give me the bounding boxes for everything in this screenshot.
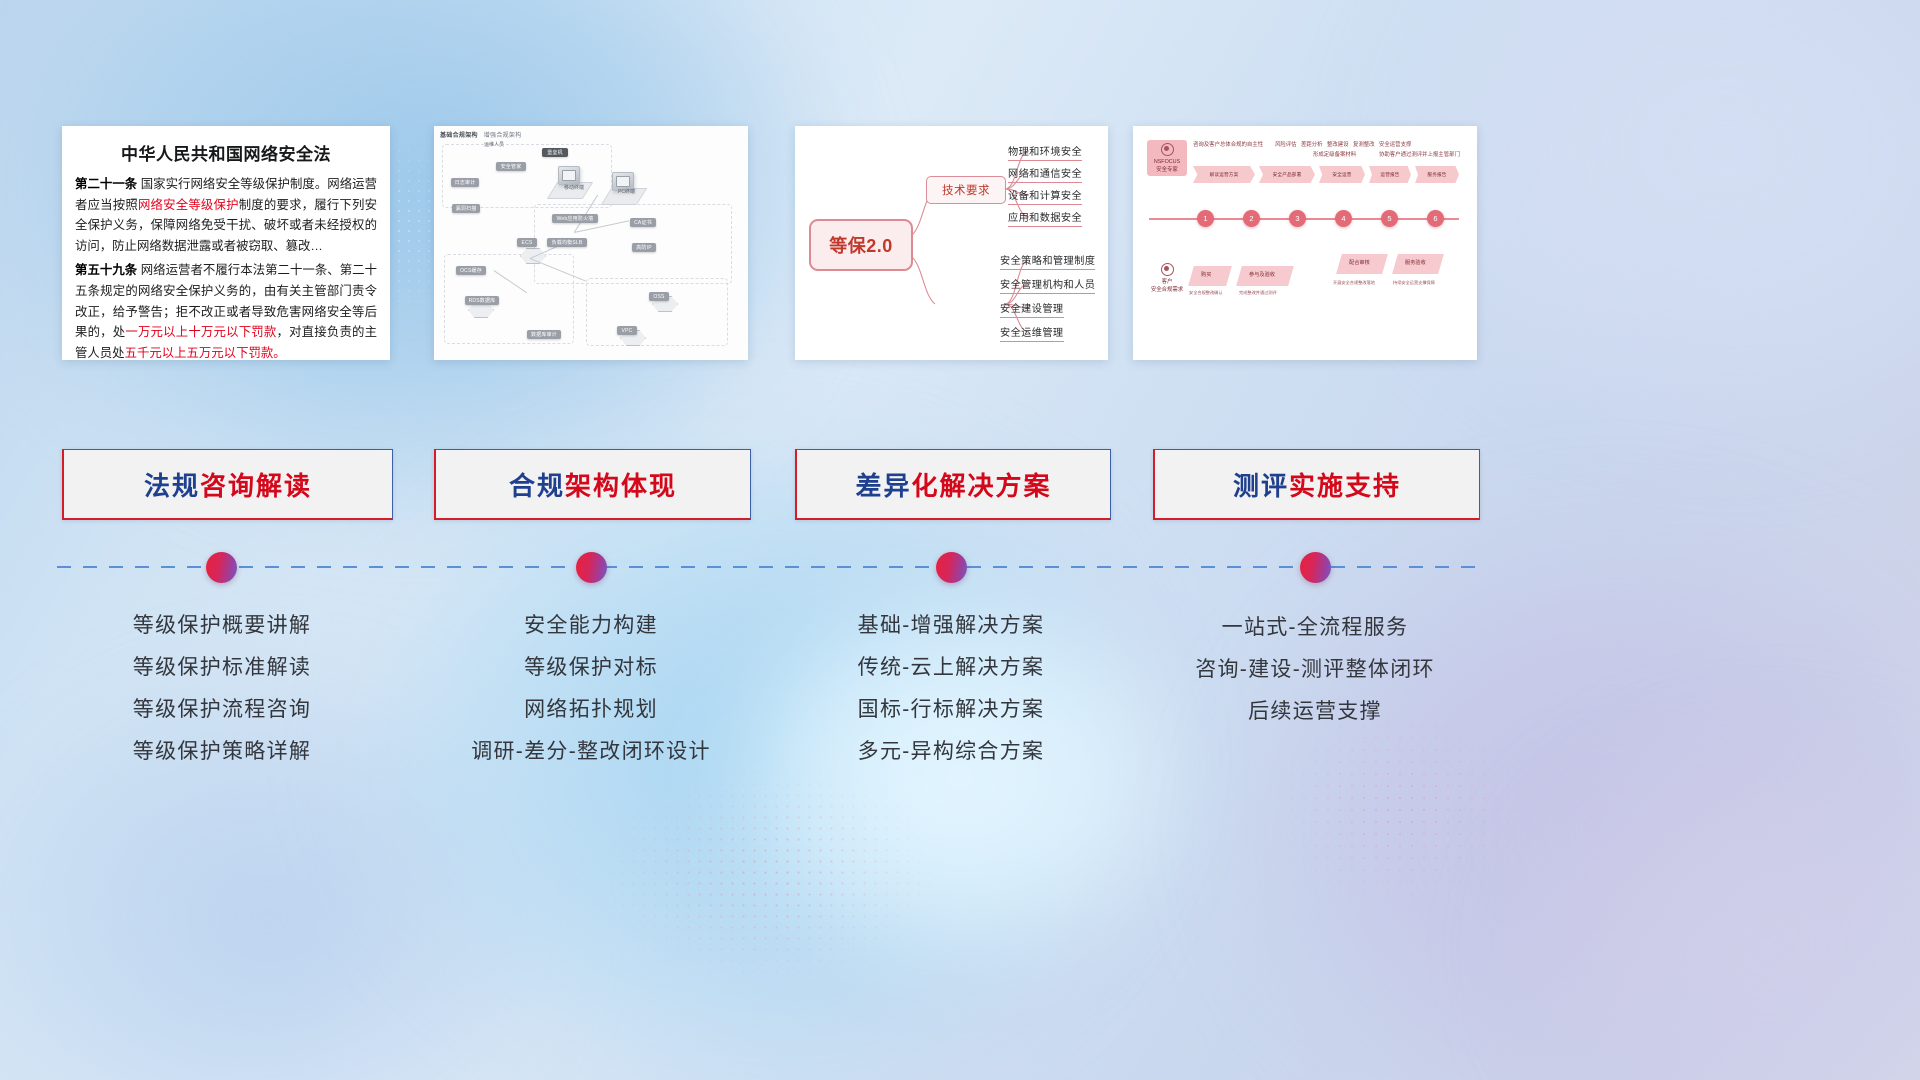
roadmap-top-tag: 协助客户通过测评并上报主管部门	[1379, 150, 1460, 158]
architecture-box: OCS缓存	[456, 266, 486, 275]
section-title-box-1[interactable]: 法规咨询解读	[62, 449, 393, 520]
architecture-zone-outline	[586, 278, 728, 346]
bullet-column-3: 基础-增强解决方案 传统-云上解决方案 国标-行标解决方案 多元-异构综合方案	[781, 605, 1121, 773]
roadmap-bottom-sub: 持续安全运营支撑保障	[1393, 280, 1435, 286]
mindmap-leaf: 设备和计算安全	[1008, 187, 1082, 205]
bullet-item: 等级保护对标	[421, 647, 761, 689]
architecture-box: Web应用防火墙	[552, 214, 598, 223]
roadmap-bottom-title: 购买	[1201, 271, 1211, 278]
architecture-box: 数据库审计	[527, 330, 561, 339]
architecture-box: OSS	[649, 292, 669, 301]
law-run-highlight: 网络安全等级保护	[138, 198, 239, 212]
architecture-box: VPC	[617, 326, 637, 335]
customer-avatar-icon	[1161, 263, 1174, 276]
roadmap-bottom-title: 服务验收	[1405, 259, 1426, 266]
law-title: 中华人民共和国网络安全法	[75, 140, 377, 165]
mindmap-leaf: 网络和通信安全	[1008, 165, 1082, 183]
bullet-item: 基础-增强解决方案	[781, 605, 1121, 647]
architecture-box: RDS数据库	[465, 296, 499, 305]
law-paragraph-59: 第五十九条 网络运营者不履行本法第二十一条、第二十五条规定的网络安全保护义务的，…	[75, 260, 377, 360]
roadmap-top-tag: 差距分析	[1301, 140, 1323, 148]
bullet-item: 多元-异构综合方案	[781, 731, 1121, 773]
card-mindmap-dengbao: 等保2.0 技术要求 管理要求 物理和环境安全 网络和通信安全 设备和计算安全 …	[795, 126, 1108, 360]
roadmap-bottom-sub: 安全合规整改确认	[1189, 290, 1223, 296]
law-article-number-59: 第五十九条	[75, 263, 137, 277]
architecture-zone-outline	[442, 144, 612, 208]
section-title-3: 差异化解决方案	[855, 466, 1051, 503]
roadmap-top-tag: 安全运营支撑	[1379, 140, 1411, 148]
bullet-item: 安全能力构建	[421, 605, 761, 647]
timeline-dot-3[interactable]	[936, 552, 967, 583]
card-cybersecurity-law: 中华人民共和国网络安全法 第二十一条 国家实行网络安全等级保护制度。网络运营者应…	[62, 126, 390, 360]
mindmap-leaf: 安全管理机构和人员	[1000, 276, 1095, 294]
bullet-item: 等级保护流程咨询	[52, 689, 392, 731]
bullet-item: 后续运营支撑	[1145, 691, 1485, 733]
mindmap-leaf: 物理和环境安全	[1008, 143, 1082, 161]
roadmap-top-tag: 形成定级备案材料	[1313, 150, 1356, 158]
roadmap-bottom-sub: 开展安全合规整改落地	[1333, 280, 1375, 286]
law-run-highlight: 一万元以上十万元以下罚款	[125, 325, 276, 339]
law-run-highlight: 五千元以上五万元以下罚款。	[125, 346, 286, 360]
architecture-box: 安全管家	[496, 162, 526, 171]
roadmap-top-tag: 咨询及客户总体合规的自主性	[1193, 140, 1263, 148]
roadmap-bottom-sub: 完成整改并通过测评	[1239, 290, 1277, 296]
architecture-header-right: 增强合规架构	[484, 133, 522, 139]
mindmap-leaf: 安全运维管理	[1000, 324, 1064, 342]
roadmap-brand-name: NSFOCUS	[1154, 158, 1180, 166]
architecture-box: ECS	[517, 238, 537, 247]
roadmap-top-tag: 复测整改	[1353, 140, 1375, 148]
timeline-dashed-line	[57, 566, 1477, 568]
law-article-number-21: 第二十一条	[75, 177, 137, 191]
section-title-4: 测评实施支持	[1233, 466, 1401, 503]
timeline-dot-1[interactable]	[206, 552, 237, 583]
bullet-column-2: 安全能力构建 等级保护对标 网络拓扑规划 调研-差分-整改闭环设计	[421, 605, 761, 773]
roadmap-step-node: 6	[1427, 210, 1444, 227]
bullet-item: 一站式-全流程服务	[1145, 607, 1485, 649]
architecture-box: 高防IP	[632, 243, 656, 252]
roadmap-customer-sub: 安全合规需求	[1151, 286, 1183, 294]
roadmap-step-node: 4	[1335, 210, 1352, 227]
roadmap-step-node: 5	[1381, 210, 1398, 227]
mindmap-leaf: 应用和数据安全	[1008, 209, 1082, 227]
section-title-1: 法规咨询解读	[144, 466, 312, 503]
architecture-box: 日志审计	[451, 178, 479, 187]
architecture-label: PC终端	[618, 188, 635, 195]
architecture-header-left: 基础合规架构	[440, 133, 478, 139]
mindmap-leaf: 安全策略和管理制度	[1000, 252, 1095, 270]
architecture-box: 负载均衡SLB	[547, 238, 587, 247]
roadmap-step-node: 3	[1289, 210, 1306, 227]
roadmap-chevron: 安全运营	[1319, 166, 1365, 183]
bullet-item: 等级保护标准解读	[52, 647, 392, 689]
bullet-item: 网络拓扑规划	[421, 689, 761, 731]
roadmap-chevron: 安全产品部署	[1259, 166, 1315, 183]
bullet-item: 等级保护策略详解	[52, 731, 392, 773]
roadmap-brand-sub: 安全专家	[1156, 166, 1178, 174]
bullet-item: 调研-差分-整改闭环设计	[421, 731, 761, 773]
architecture-box: 堡垒机	[542, 148, 568, 157]
architecture-box: 漏洞扫描	[452, 204, 480, 213]
architecture-label: 运维人员	[484, 141, 504, 148]
mindmap-root-node: 等保2.0	[809, 219, 913, 271]
expert-avatar-icon	[1161, 143, 1174, 156]
architecture-box: CA证书	[630, 218, 656, 227]
architecture-server-icon	[558, 166, 580, 185]
section-title-2: 合规架构体现	[509, 466, 677, 503]
mindmap-branch-technical: 技术要求	[926, 176, 1006, 204]
bullet-item: 国标-行标解决方案	[781, 689, 1121, 731]
card-cloud-architecture: 基础合规架构 增强合规架构 安全管家 堡垒机 日志审计 Web应用防火墙 负载均…	[434, 126, 748, 360]
roadmap-top-tag: 整改建设	[1327, 140, 1349, 148]
roadmap-step-node: 1	[1197, 210, 1214, 227]
roadmap-chevron: 解读运营方案	[1193, 166, 1255, 183]
architecture-label: 移动终端	[564, 184, 584, 191]
roadmap-customer-name: 客户	[1162, 278, 1173, 286]
roadmap-chevron: 服务报告	[1415, 166, 1459, 183]
bullet-column-4: 一站式-全流程服务 咨询-建设-测评整体闭环 后续运营支撑	[1145, 607, 1485, 733]
card-nsfocus-roadmap: NSFOCUS 安全专家 客户 安全合规需求 咨询及客户总体合规的自主性 风险评…	[1133, 126, 1477, 360]
roadmap-step-node: 2	[1243, 210, 1260, 227]
mindmap-leaf: 安全建设管理	[1000, 300, 1064, 318]
roadmap-bottom-title: 参与及验收	[1249, 271, 1275, 278]
section-title-box-2[interactable]: 合规架构体现	[434, 449, 751, 520]
roadmap-bottom-title: 配合审核	[1349, 259, 1370, 266]
bullet-item: 咨询-建设-测评整体闭环	[1145, 649, 1485, 691]
bullet-item: 传统-云上解决方案	[781, 647, 1121, 689]
roadmap-chevron: 运营报告	[1369, 166, 1411, 183]
timeline-dot-2[interactable]	[576, 552, 607, 583]
law-paragraph-21: 第二十一条 国家实行网络安全等级保护制度。网络运营者应当按照网络安全等级保护制度…	[75, 174, 377, 256]
roadmap-brand-badge: NSFOCUS 安全专家	[1147, 140, 1187, 176]
architecture-header: 基础合规架构 增强合规架构	[440, 130, 522, 139]
timeline-dot-4[interactable]	[1300, 552, 1331, 583]
roadmap-top-tag: 风险评估	[1275, 140, 1297, 148]
roadmap-customer-badge: 客户 安全合规需求	[1147, 262, 1187, 294]
bullet-column-1: 等级保护概要讲解 等级保护标准解读 等级保护流程咨询 等级保护策略详解	[52, 605, 392, 773]
section-title-box-4[interactable]: 测评实施支持	[1153, 449, 1480, 520]
section-title-box-3[interactable]: 差异化解决方案	[795, 449, 1111, 520]
bullet-item: 等级保护概要讲解	[52, 605, 392, 647]
